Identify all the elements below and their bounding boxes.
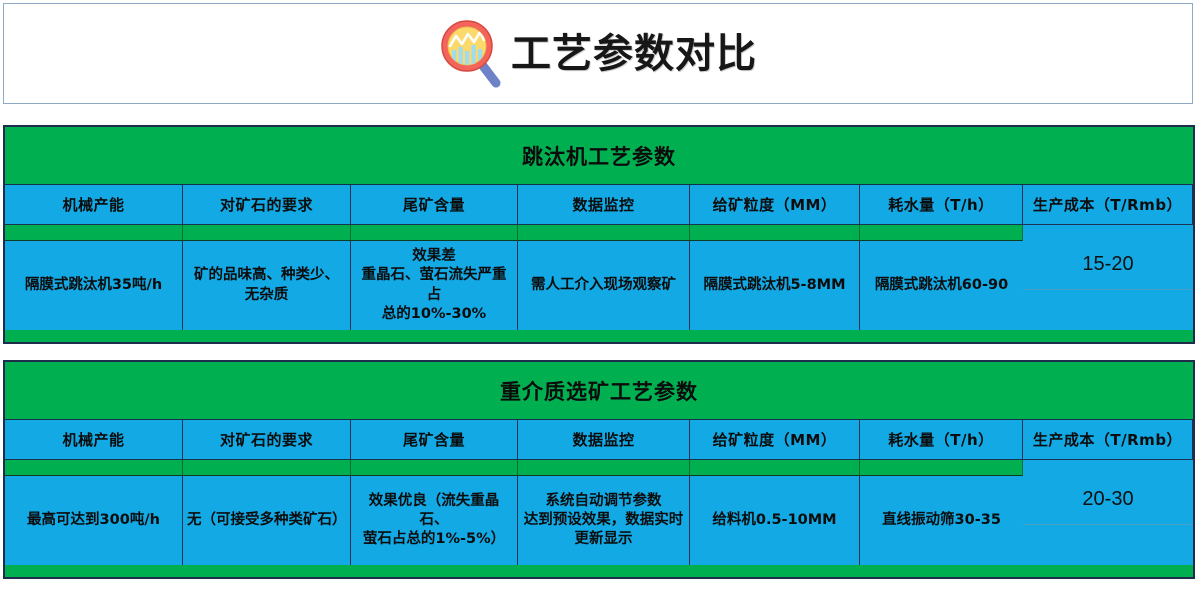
t2-spacer-2 [183,460,351,476]
page-root: 工艺参数对比 跳汰机工艺参数 机械产能 对矿石的要求 尾矿含量 数据监控 给矿粒… [0,0,1200,607]
t1-spacer-1 [5,225,183,241]
t2-cell-ore-req: 无（可接受多种类矿石） [183,476,351,565]
t1-cost-divider [1023,289,1193,290]
t1-spacer-5 [690,225,860,241]
t2-cell-feed-size: 给料机0.5-10MM [690,476,860,565]
t2-col-header-monitoring: 数据监控 [518,420,690,460]
table-2-title: 重介质选矿工艺参数 [500,376,698,406]
t1-cell-tailings: 效果差 重晶石、萤石流失严重占 总的10%-30% [351,241,518,330]
t2-col-header-cost: 生产成本（T/Rmb） [1023,420,1193,460]
t2-cell-water: 直线振动筛30-35 [860,476,1023,565]
title-banner: 工艺参数对比 [3,3,1193,104]
t1-col-header-feed-size: 给矿粒度（MM） [690,185,860,225]
t2-col-header-water: 耗水量（T/h） [860,420,1023,460]
table-2-grid: 机械产能 对矿石的要求 尾矿含量 数据监控 给矿粒度（MM） 耗水量（T/h） … [5,420,1193,565]
t1-col-header-cost: 生产成本（T/Rmb） [1023,185,1193,225]
t1-cell-ore-req: 矿的品味高、种类少、 无杂质 [183,241,351,330]
t1-col-header-water: 耗水量（T/h） [860,185,1023,225]
title-group: 工艺参数对比 [439,18,757,90]
table-dense-medium-parameters: 重介质选矿工艺参数 机械产能 对矿石的要求 尾矿含量 数据监控 给矿粒度（MM）… [3,360,1195,579]
t1-col-header-monitoring: 数据监控 [518,185,690,225]
t1-cost-value: 15-20 [1023,253,1193,276]
t2-cell-monitoring: 系统自动调节参数 达到预设效果，数据实时 更新显示 [518,476,690,565]
t2-col-header-capacity: 机械产能 [5,420,183,460]
t1-cell-monitoring: 需人工介入现场观察矿 [518,241,690,330]
table-1-title: 跳汰机工艺参数 [522,141,676,171]
t1-col-header-capacity: 机械产能 [5,185,183,225]
t1-cell-feed-size: 隔膜式跳汰机5-8MM [690,241,860,330]
t1-spacer-3 [351,225,518,241]
t2-cell-capacity: 最高可达到300吨/h [5,476,183,565]
t2-cost-value: 20-30 [1023,488,1193,511]
t2-col-header-tailings: 尾矿含量 [351,420,518,460]
t2-cost-divider [1023,524,1193,525]
t1-spacer-4 [518,225,690,241]
magnifier-chart-icon [439,18,507,90]
page-title: 工艺参数对比 [511,34,757,74]
t2-spacer-3 [351,460,518,476]
t2-cell-cost: 20-30 [1023,460,1193,565]
t1-cell-cost: 15-20 [1023,225,1193,330]
t1-col-header-ore-req: 对矿石的要求 [183,185,351,225]
t2-col-header-feed-size: 给矿粒度（MM） [690,420,860,460]
t1-spacer-2 [183,225,351,241]
t2-cell-tailings: 效果优良（流失重晶石、 萤石占总的1%-5%） [351,476,518,565]
t1-col-header-tailings: 尾矿含量 [351,185,518,225]
table-2-title-bar: 重介质选矿工艺参数 [5,362,1193,420]
table-jig-parameters: 跳汰机工艺参数 机械产能 对矿石的要求 尾矿含量 数据监控 给矿粒度（MM） 耗… [3,125,1195,344]
t1-cell-water: 隔膜式跳汰机60-90 [860,241,1023,330]
t2-spacer-6 [860,460,1023,476]
t2-spacer-5 [690,460,860,476]
t2-spacer-1 [5,460,183,476]
table-1-title-bar: 跳汰机工艺参数 [5,127,1193,185]
table-1-grid: 机械产能 对矿石的要求 尾矿含量 数据监控 给矿粒度（MM） 耗水量（T/h） … [5,185,1193,330]
t1-cell-capacity: 隔膜式跳汰机35吨/h [5,241,183,330]
t2-spacer-4 [518,460,690,476]
t2-col-header-ore-req: 对矿石的要求 [183,420,351,460]
t1-spacer-6 [860,225,1023,241]
